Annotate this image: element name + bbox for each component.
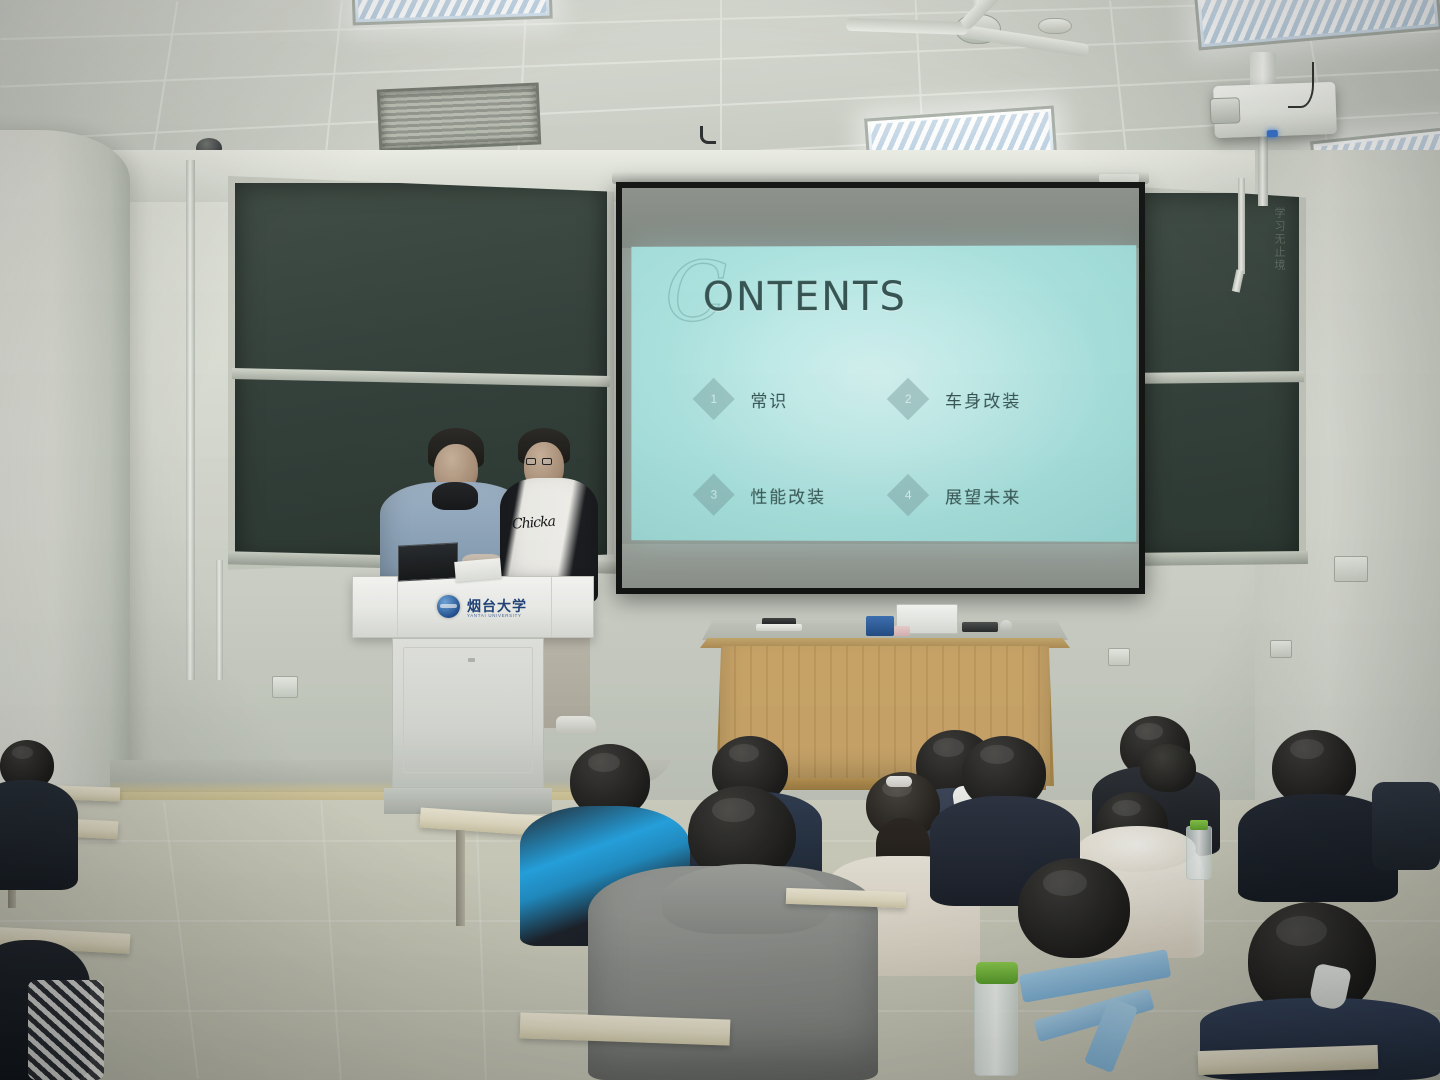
projector-power-led: [1267, 130, 1278, 137]
hanging-cable: [1238, 178, 1245, 274]
diamond-marker-icon: 4: [887, 474, 929, 516]
toc-number: 1: [710, 392, 717, 406]
wall-outlet[interactable]: [1108, 648, 1130, 666]
blackboard-writing: 学习无止境: [1271, 207, 1285, 327]
ceiling-projector: [1213, 82, 1337, 138]
desk-small-cup: [1000, 620, 1012, 632]
light-switch-plate[interactable]: [1334, 556, 1368, 582]
ceiling-vent: [377, 82, 542, 151]
toc-label: 性能改装: [750, 482, 826, 507]
backpack: [1372, 782, 1440, 870]
toc-label: 车身改装: [945, 386, 1021, 411]
wall-conduit-pipe: [216, 560, 223, 680]
audience-head: [1140, 744, 1196, 792]
podium-laptop[interactable]: [398, 542, 458, 581]
desk-dark-device[interactable]: [962, 622, 998, 632]
projector-lens-icon: [1210, 97, 1241, 124]
wall-outlet[interactable]: [1270, 640, 1292, 658]
toc-item-3: 3 性能改装: [699, 480, 883, 510]
blackboard-divider-rail: [1126, 371, 1304, 384]
presentation-slide: C ONTENTS 1 常识 2 车身改装: [631, 245, 1136, 542]
toc-number: 2: [905, 392, 912, 406]
toc-label: 展望未来: [945, 483, 1021, 508]
podium-top: 烟台大学 YANTAI UNIVERSITY: [352, 576, 594, 638]
toc-item-4: 4 展望未来: [893, 480, 1079, 510]
screen-bottom-band: [622, 544, 1139, 588]
wall-conduit-pipe: [186, 160, 195, 680]
diamond-marker-icon: 1: [693, 378, 735, 420]
glasses-icon: [526, 458, 564, 465]
blackboard-chalk-tray: [1122, 551, 1308, 566]
slide-title-group: C ONTENTS: [703, 274, 907, 332]
toc-number: 3: [710, 488, 717, 502]
podium-body: [392, 638, 544, 788]
diamond-marker-icon: 2: [887, 378, 929, 420]
podium-knob-icon[interactable]: [468, 658, 475, 662]
projection-screen: C ONTENTS 1 常识 2 车身改装: [616, 182, 1145, 594]
podium-cabinet-door[interactable]: [403, 647, 533, 773]
university-name-en: YANTAI UNIVERSITY: [467, 613, 522, 618]
water-bottle[interactable]: [974, 978, 1018, 1076]
presenter-right-shoe: [556, 716, 596, 734]
ceiling-hook-icon: [700, 126, 716, 144]
presenter-left-collar: [432, 482, 478, 510]
toc-item-1: 1 常识: [699, 384, 883, 414]
toc-label: 常识: [750, 387, 788, 412]
toc-number: 4: [905, 488, 912, 502]
university-logo-icon: [437, 595, 460, 618]
diamond-marker-icon: 3: [693, 473, 735, 515]
bottle-cap: [1190, 820, 1208, 830]
patterned-bag: [28, 980, 104, 1080]
screen-top-band: [622, 188, 1139, 248]
slide-title: ONTENTS: [703, 274, 907, 320]
desk-pink-item: [894, 626, 910, 636]
projector-cable: [1288, 62, 1314, 108]
wall-outlet[interactable]: [272, 676, 298, 698]
roller-label: [1099, 174, 1139, 182]
desk-leg: [456, 830, 465, 926]
hair-scrunchie-icon: [886, 776, 912, 787]
slide-contents-list: 1 常识 2 车身改装 3 性能改装: [699, 384, 1079, 511]
audience-body: [0, 780, 78, 890]
bottle-cap: [976, 962, 1018, 984]
toc-item-2: 2 车身改装: [893, 384, 1079, 414]
smoke-detector: [1038, 18, 1072, 34]
presenter-notes-paper: [454, 558, 502, 582]
desk-blue-box: [866, 616, 894, 636]
desk-paper-stack: [756, 624, 802, 631]
classroom-photo: 学习无止境 C ONTENTS 1: [0, 0, 1440, 1080]
water-bottle[interactable]: [1186, 826, 1212, 880]
